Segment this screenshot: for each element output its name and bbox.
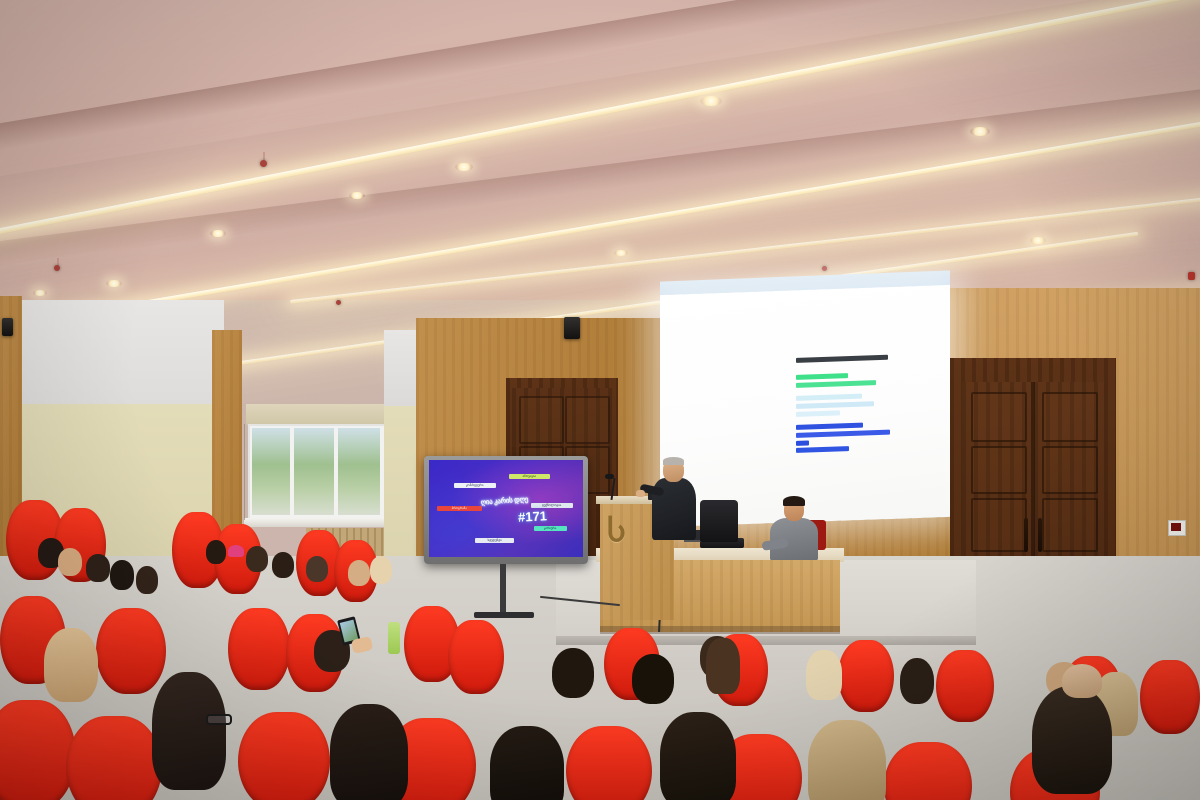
tv-badge-number: #171 <box>518 508 548 524</box>
audience-head-b10 <box>348 560 370 586</box>
wall-upper-window-right <box>384 330 418 406</box>
slide-line-3 <box>796 380 876 388</box>
tv-tag-4: ტექნოლოგია <box>531 503 573 508</box>
door-handle-left[interactable] <box>1024 518 1028 552</box>
seat-midrow-6[interactable] <box>448 620 504 694</box>
tv-tag-3: ინოვაცია <box>509 474 550 479</box>
door-right-panel-1 <box>971 392 1027 442</box>
seat-frontrow-5[interactable] <box>566 726 652 800</box>
sprinkler-head-6 <box>1188 272 1195 280</box>
audience-glasses <box>206 714 232 725</box>
tv-stand-base <box>474 612 534 618</box>
audience-head-b5 <box>136 566 158 594</box>
slide-content <box>796 354 906 458</box>
audience-head-b3 <box>86 554 110 582</box>
downlight-4 <box>210 230 226 237</box>
audience-head-b6 <box>206 540 226 564</box>
downlight-3 <box>349 192 365 199</box>
downlight-7 <box>970 127 990 136</box>
panelist-hair <box>783 496 805 506</box>
door-left-panel-2 <box>565 396 610 444</box>
fire-alarm-indicator <box>1171 523 1181 531</box>
door-left-panel-1 <box>519 396 564 444</box>
speaker-center <box>564 317 580 339</box>
seat-midrow-2[interactable] <box>96 608 166 694</box>
slide-line-5 <box>796 401 874 409</box>
tv-tag-6: სტუდენტი <box>475 538 514 543</box>
presenter-hand <box>636 490 645 497</box>
audience-head-f2 <box>330 704 408 800</box>
audience-drink-bottle <box>388 622 400 654</box>
downlight-2 <box>455 163 473 171</box>
door-right-panel-3 <box>971 446 1027 494</box>
audience-head-b2 <box>58 548 82 576</box>
audience-head-b7 <box>246 546 268 572</box>
speaker-left <box>2 318 13 336</box>
seat-midrow-12[interactable] <box>1140 660 1200 734</box>
audience-head-b9 <box>306 556 328 582</box>
window-pane-1 <box>252 428 290 515</box>
seat-midrow-10[interactable] <box>936 650 994 722</box>
window-sill <box>244 518 390 527</box>
downlight-1 <box>700 96 722 106</box>
audience-head-bald <box>1062 664 1102 698</box>
slide-line-8 <box>796 430 890 438</box>
sprinkler-head-1 <box>260 160 267 167</box>
podium-microphone-head <box>605 474 614 479</box>
tv-title-text: ღია კარის დღე <box>469 496 540 507</box>
audience-head-b11 <box>370 556 392 584</box>
door-right-panel-5 <box>971 498 1027 552</box>
audience-head-m3 <box>552 648 594 698</box>
audience-head-f4 <box>660 712 736 800</box>
audience-head-m1 <box>44 628 98 702</box>
seat-frontrow-1[interactable] <box>0 700 76 800</box>
tv-tag-5: კარიერა <box>534 526 567 531</box>
audience-head-m8 <box>900 658 934 704</box>
presenter-hair <box>663 457 684 465</box>
tv-tag-1: კომპიუტერი <box>454 483 496 488</box>
sprinkler-head-3 <box>336 300 341 305</box>
audience-head-m7 <box>806 650 842 700</box>
sprinkler-head-2 <box>54 265 60 271</box>
audience-head-f1 <box>152 672 226 790</box>
window-pane-3 <box>338 428 380 515</box>
tv-screen[interactable]: კომპიუტერიპროგრამაინოვაციატექნოლოგიაკარი… <box>429 460 583 557</box>
seat-frontrow-2[interactable] <box>66 716 162 800</box>
door-handle-right[interactable] <box>1038 518 1042 552</box>
door-right-panel-6 <box>1042 498 1098 552</box>
podium-logo: Ⴑ <box>607 516 633 550</box>
tv-stand-post <box>500 564 506 616</box>
audience-head-b8 <box>272 552 294 578</box>
door-right-panel-2 <box>1042 392 1098 442</box>
slide-line-7 <box>796 423 863 430</box>
seat-midrow-3[interactable] <box>228 608 290 690</box>
window-pane-2 <box>294 428 334 515</box>
seat-midrow-9[interactable] <box>838 640 894 712</box>
seat-frontrow-3[interactable] <box>238 712 330 800</box>
audience-pink-cap <box>228 545 244 557</box>
slide-line-10 <box>796 446 849 453</box>
window-blind-valance <box>246 404 386 426</box>
door-right-panel-4 <box>1042 446 1098 494</box>
downlight-5 <box>106 280 122 287</box>
slide-line-9 <box>796 440 809 445</box>
blind-cord <box>244 424 245 520</box>
lecture-hall-photo: Ⴑ კომპიუტერიპროგრამაინოვაციატექნოლოგიაკა… <box>0 0 1200 800</box>
slide-line-2 <box>796 373 848 380</box>
downlight-8 <box>1030 237 1046 244</box>
slide-line-4 <box>796 394 862 401</box>
slide-line-6 <box>796 410 840 417</box>
downlight-6 <box>33 290 47 296</box>
audience-head-b4 <box>110 560 134 590</box>
audience-head-f3 <box>490 726 564 800</box>
downlight-9 <box>614 250 628 256</box>
audience-head-m4 <box>632 654 674 704</box>
audience-head-f5 <box>808 720 886 800</box>
audience-head-m6 <box>706 638 740 694</box>
stage-chair[interactable] <box>700 500 738 542</box>
sprinkler-head-5 <box>822 266 827 271</box>
audience-head-f6 <box>1032 686 1112 794</box>
